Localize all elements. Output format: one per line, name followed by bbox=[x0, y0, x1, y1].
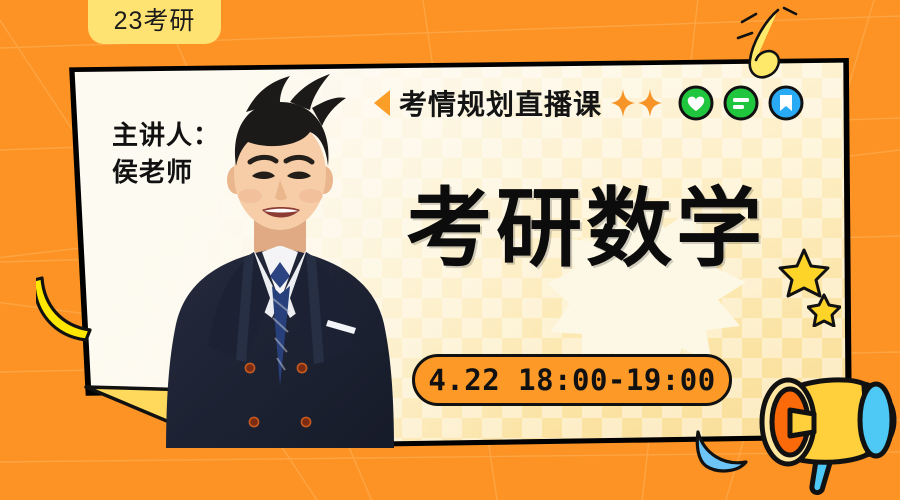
year-badge-label: 23考研 bbox=[114, 1, 196, 37]
blue-arc-decoration bbox=[694, 428, 754, 474]
sparkle-group bbox=[610, 88, 663, 118]
speaker-label-line1: 主讲人： bbox=[112, 117, 220, 154]
megaphone-icon bbox=[756, 340, 900, 500]
subtitle-row: 考情规划直播课 bbox=[374, 83, 805, 123]
subtitle-text: 考情规划直播课 bbox=[399, 83, 602, 123]
heart-icon[interactable] bbox=[677, 84, 715, 122]
star-big-icon bbox=[778, 247, 830, 299]
sparkle-icon bbox=[637, 88, 663, 118]
list-icon[interactable] bbox=[722, 84, 760, 122]
triangle-left-icon bbox=[374, 90, 390, 116]
yellow-arc-decoration bbox=[36, 272, 98, 342]
datetime-text: 4.22 18:00-19:00 bbox=[428, 363, 715, 397]
promo-poster: 23考研 主讲人： 侯老师 bbox=[0, 0, 900, 500]
speaker-label: 主讲人： 侯老师 bbox=[112, 117, 220, 191]
datetime-badge[interactable]: 4.22 18:00-19:00 bbox=[412, 354, 732, 406]
badge-icon-group bbox=[677, 84, 805, 122]
sparkle-icon bbox=[610, 88, 636, 118]
star-small-icon bbox=[807, 293, 841, 327]
year-badge: 23考研 bbox=[88, 0, 221, 44]
doodle-six-icon bbox=[726, 4, 806, 82]
page-title: 考研数学 bbox=[406, 186, 766, 272]
speaker-label-line2: 侯老师 bbox=[112, 154, 220, 191]
bookmark-icon[interactable] bbox=[767, 84, 805, 122]
